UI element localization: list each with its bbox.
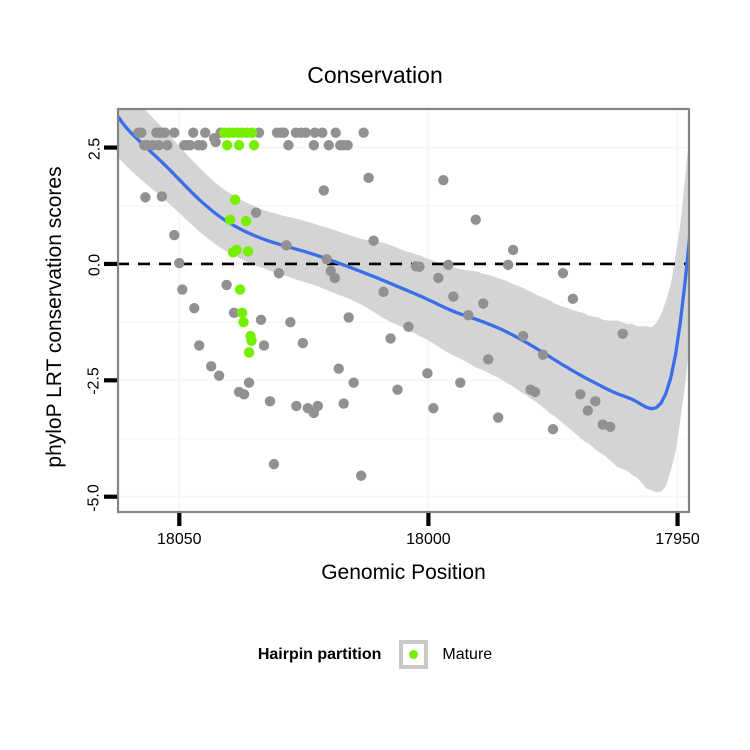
y-axis-ticks — [104, 148, 117, 497]
data-point[interactable] — [443, 260, 453, 270]
data-point[interactable] — [251, 208, 261, 218]
data-point[interactable] — [197, 140, 207, 150]
data-point[interactable] — [317, 127, 327, 137]
data-point[interactable] — [356, 471, 366, 481]
x-tick-label: 17950 — [655, 531, 700, 549]
data-point[interactable] — [342, 140, 352, 150]
data-point[interactable] — [189, 303, 199, 313]
plot-canvas — [0, 0, 750, 750]
data-point[interactable] — [313, 401, 323, 411]
data-point[interactable] — [225, 215, 235, 225]
data-point[interactable] — [508, 245, 518, 255]
data-point[interactable] — [568, 294, 578, 304]
data-point[interactable] — [239, 389, 249, 399]
data-point[interactable] — [244, 377, 254, 387]
data-point[interactable] — [247, 127, 257, 137]
data-point[interactable] — [249, 140, 259, 150]
data-point[interactable] — [269, 459, 279, 469]
data-point[interactable] — [358, 127, 368, 137]
data-point[interactable] — [162, 140, 172, 150]
data-point[interactable] — [291, 401, 301, 411]
data-point[interactable] — [538, 350, 548, 360]
data-point[interactable] — [590, 396, 600, 406]
data-point[interactable] — [348, 377, 358, 387]
data-point[interactable] — [274, 268, 284, 278]
y-tick-label: 0.0 — [86, 254, 104, 276]
data-point[interactable] — [438, 175, 448, 185]
data-point[interactable] — [237, 308, 247, 318]
data-point[interactable] — [471, 215, 481, 225]
data-point[interactable] — [403, 322, 413, 332]
data-point[interactable] — [245, 331, 255, 341]
y-tick-label: -5.0 — [86, 484, 104, 512]
legend-title: Hairpin partition — [258, 646, 382, 664]
y-tick-label: 2.5 — [86, 137, 104, 159]
data-point[interactable] — [177, 284, 187, 294]
data-point[interactable] — [558, 268, 568, 278]
legend-marker-icon — [409, 650, 418, 659]
data-point[interactable] — [244, 347, 254, 357]
data-point[interactable] — [378, 287, 388, 297]
data-point[interactable] — [265, 396, 275, 406]
data-point[interactable] — [169, 230, 179, 240]
y-tick-label: -2.5 — [86, 368, 104, 396]
data-point[interactable] — [188, 127, 198, 137]
data-point[interactable] — [363, 173, 373, 183]
data-point[interactable] — [279, 127, 289, 137]
data-point[interactable] — [228, 247, 238, 257]
data-point[interactable] — [483, 354, 493, 364]
data-point[interactable] — [518, 331, 528, 341]
legend-entry-label: Mature — [442, 646, 492, 664]
data-point[interactable] — [200, 127, 210, 137]
data-point[interactable] — [548, 424, 558, 434]
chart-root: Conservation 180501800017950 2.50.0-2.5-… — [0, 0, 750, 750]
data-point[interactable] — [319, 185, 329, 195]
data-point[interactable] — [478, 298, 488, 308]
data-point[interactable] — [530, 387, 540, 397]
legend-key-mature[interactable] — [399, 640, 428, 669]
x-axis-ticks — [179, 513, 677, 526]
data-point[interactable] — [618, 329, 628, 339]
y-axis-title: phyloP LRT conservation scores — [43, 107, 67, 527]
data-point[interactable] — [455, 377, 465, 387]
data-point[interactable] — [157, 191, 167, 201]
data-point[interactable] — [140, 192, 150, 202]
data-point[interactable] — [234, 140, 244, 150]
data-point[interactable] — [330, 273, 340, 283]
data-point[interactable] — [575, 389, 585, 399]
data-point[interactable] — [324, 140, 334, 150]
data-point[interactable] — [256, 315, 266, 325]
data-point[interactable] — [503, 260, 513, 270]
data-point[interactable] — [433, 273, 443, 283]
data-point[interactable] — [322, 254, 332, 264]
data-point[interactable] — [210, 137, 220, 147]
data-point[interactable] — [222, 140, 232, 150]
x-tick-label: 18050 — [157, 531, 202, 549]
data-point[interactable] — [243, 246, 253, 256]
data-point[interactable] — [241, 216, 251, 226]
data-point[interactable] — [194, 340, 204, 350]
data-point[interactable] — [281, 240, 291, 250]
x-axis-title: Genomic Position — [117, 561, 690, 585]
data-point[interactable] — [428, 403, 438, 413]
data-point[interactable] — [235, 284, 245, 294]
data-point[interactable] — [214, 370, 224, 380]
data-point[interactable] — [343, 312, 353, 322]
data-point[interactable] — [493, 412, 503, 422]
data-point[interactable] — [174, 258, 184, 268]
data-point[interactable] — [301, 127, 311, 137]
x-tick-label: 18000 — [406, 531, 451, 549]
data-point[interactable] — [283, 140, 293, 150]
data-point[interactable] — [448, 291, 458, 301]
data-point[interactable] — [605, 422, 615, 432]
data-point[interactable] — [298, 338, 308, 348]
data-point[interactable] — [414, 262, 424, 272]
data-point[interactable] — [309, 140, 319, 150]
data-point[interactable] — [334, 363, 344, 373]
data-point[interactable] — [339, 398, 349, 408]
data-point[interactable] — [392, 384, 402, 394]
data-point[interactable] — [238, 317, 248, 327]
data-point[interactable] — [259, 340, 269, 350]
data-point[interactable] — [169, 127, 179, 137]
data-point[interactable] — [463, 310, 473, 320]
data-point[interactable] — [385, 333, 395, 343]
legend: Hairpin partition Mature — [0, 640, 750, 669]
data-point[interactable] — [230, 195, 240, 205]
data-point[interactable] — [368, 235, 378, 245]
data-point[interactable] — [206, 361, 216, 371]
data-point[interactable] — [583, 405, 593, 415]
data-point[interactable] — [422, 368, 432, 378]
data-point[interactable] — [285, 317, 295, 327]
data-point[interactable] — [221, 280, 231, 290]
data-point[interactable] — [331, 127, 341, 137]
data-point[interactable] — [160, 127, 170, 137]
data-point[interactable] — [136, 127, 146, 137]
